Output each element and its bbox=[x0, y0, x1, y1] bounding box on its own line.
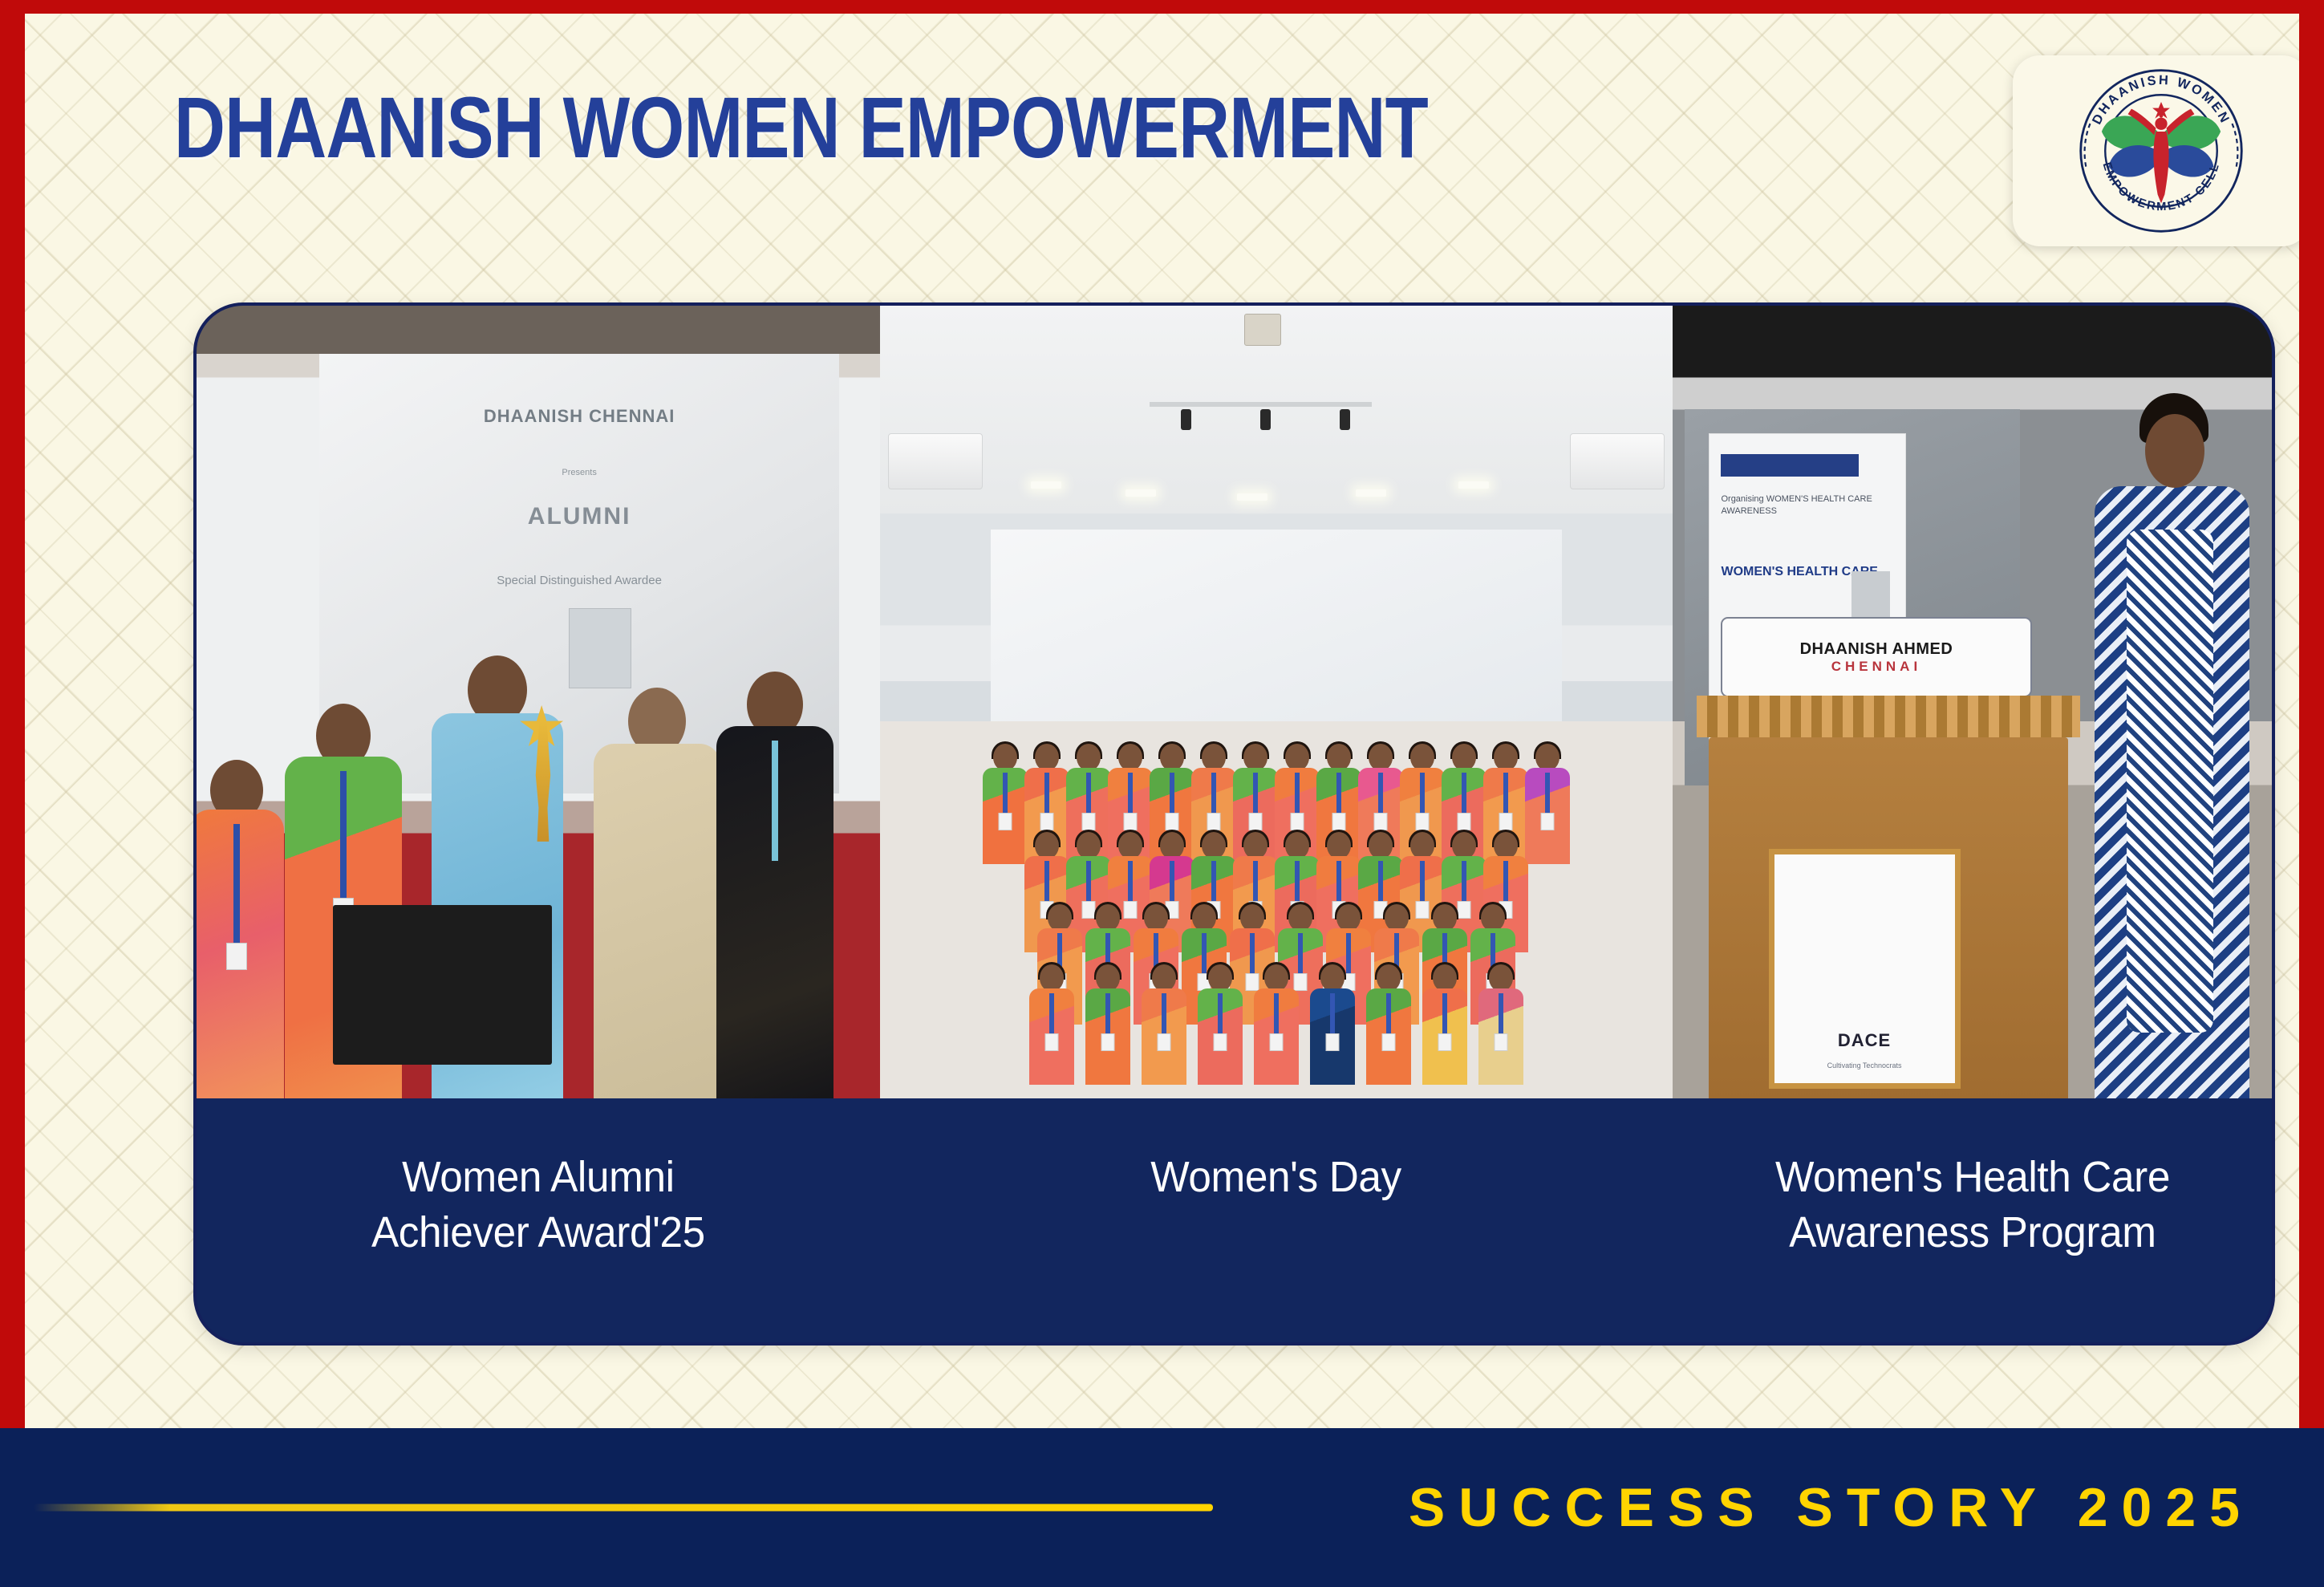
person-4-awardee bbox=[591, 688, 723, 1105]
photo-row: DHAANISH CHENNAI Presents ALUMNI Special… bbox=[197, 306, 2272, 1105]
screen-line-2: Presents bbox=[319, 468, 839, 477]
screen-line-3: ALUMNI bbox=[319, 503, 839, 530]
ceiling-light-4 bbox=[1356, 489, 1386, 497]
plaque-line-1: DACE bbox=[1774, 1030, 1955, 1051]
plaque-line-2: Cultivating Technocrats bbox=[1774, 1061, 1955, 1069]
caption-text: Women Alumni Achiever Award'25 bbox=[371, 1150, 705, 1260]
ceiling-light-5 bbox=[1458, 481, 1489, 489]
slide-header-bar bbox=[1721, 454, 1858, 477]
caption-womens-health-care-awareness-program: Women's Health Care Awareness Program bbox=[1673, 1098, 2272, 1342]
poster-frame: DHAANISH WOMEN EMPOWERMENT bbox=[0, 0, 2324, 1587]
slide-speaker-photo bbox=[1851, 571, 1890, 618]
footer-divider-line bbox=[34, 1504, 1213, 1512]
footer-bar: SUCCESS STORY 2025 bbox=[0, 1428, 2324, 1587]
ceiling-light-3 bbox=[1237, 493, 1267, 501]
air-conditioner-right bbox=[1570, 433, 1665, 489]
screen-line-1: DHAANISH CHENNAI bbox=[319, 406, 839, 427]
screen-line-4: Special Distinguished Awardee bbox=[319, 574, 839, 587]
person-5 bbox=[715, 672, 835, 1105]
caption-row: Women Alumni Achiever Award'25 Women's D… bbox=[197, 1098, 2272, 1342]
caption-womens-day: Women's Day bbox=[880, 1098, 1673, 1342]
podium-top-trim bbox=[1697, 696, 2080, 737]
page-title: DHAANISH WOMEN EMPOWERMENT bbox=[174, 84, 1428, 171]
dhaanish-women-empowerment-cell-logo: DHAANISH WOMEN EMPOWERMENT CELL bbox=[2013, 55, 2299, 246]
gallery-photo-womens-day[interactable] bbox=[880, 306, 1673, 1105]
footer-title: SUCCESS STORY 2025 bbox=[1409, 1476, 2253, 1539]
gallery-card: DHAANISH CHENNAI Presents ALUMNI Special… bbox=[193, 302, 2275, 1345]
projector-icon bbox=[1244, 314, 1281, 346]
caption-text: Women's Day bbox=[1151, 1150, 1402, 1205]
gallery-photo-women-alumni-achiever-award[interactable]: DHAANISH CHENNAI Presents ALUMNI Special… bbox=[197, 306, 880, 1105]
ceiling-light-1 bbox=[1031, 481, 1061, 489]
speaker-person bbox=[2080, 386, 2260, 1105]
gallery-photo-womens-health-care-awareness[interactable]: Organising WOMEN'S HEALTH CARE AWARENESS… bbox=[1673, 306, 2272, 1105]
spotlight-1 bbox=[1181, 409, 1191, 430]
ceiling-light-2 bbox=[1125, 489, 1156, 497]
podium-sign-line-2: CHENNAI bbox=[1831, 659, 1921, 675]
person-1 bbox=[197, 760, 285, 1105]
attendee-row-4 bbox=[880, 964, 1673, 1105]
spotlight-2 bbox=[1260, 409, 1271, 430]
air-conditioner-left bbox=[888, 433, 984, 489]
logo-emblem-icon: DHAANISH WOMEN EMPOWERMENT CELL bbox=[2074, 63, 2249, 238]
podium-sign-line-1: DHAANISH AHMED bbox=[1800, 640, 1953, 659]
group-of-attendees bbox=[880, 609, 1673, 1105]
spotlight-3 bbox=[1340, 409, 1350, 430]
slide-line-2: Organising WOMEN'S HEALTH CARE AWARENESS bbox=[1721, 493, 1893, 518]
screen-awardee-photo bbox=[569, 608, 631, 688]
caption-text: Women's Health Care Awareness Program bbox=[1774, 1150, 2169, 1260]
light-track bbox=[1150, 402, 1372, 407]
caption-women-alumni-achiever-award: Women Alumni Achiever Award'25 bbox=[197, 1098, 880, 1342]
dace-plaque: DACE Cultivating Technocrats bbox=[1769, 849, 1961, 1089]
display-table bbox=[333, 905, 552, 1065]
podium-sign: DHAANISH AHMED CHENNAI bbox=[1721, 617, 2032, 697]
poster-canvas: DHAANISH WOMEN EMPOWERMENT bbox=[25, 14, 2299, 1587]
